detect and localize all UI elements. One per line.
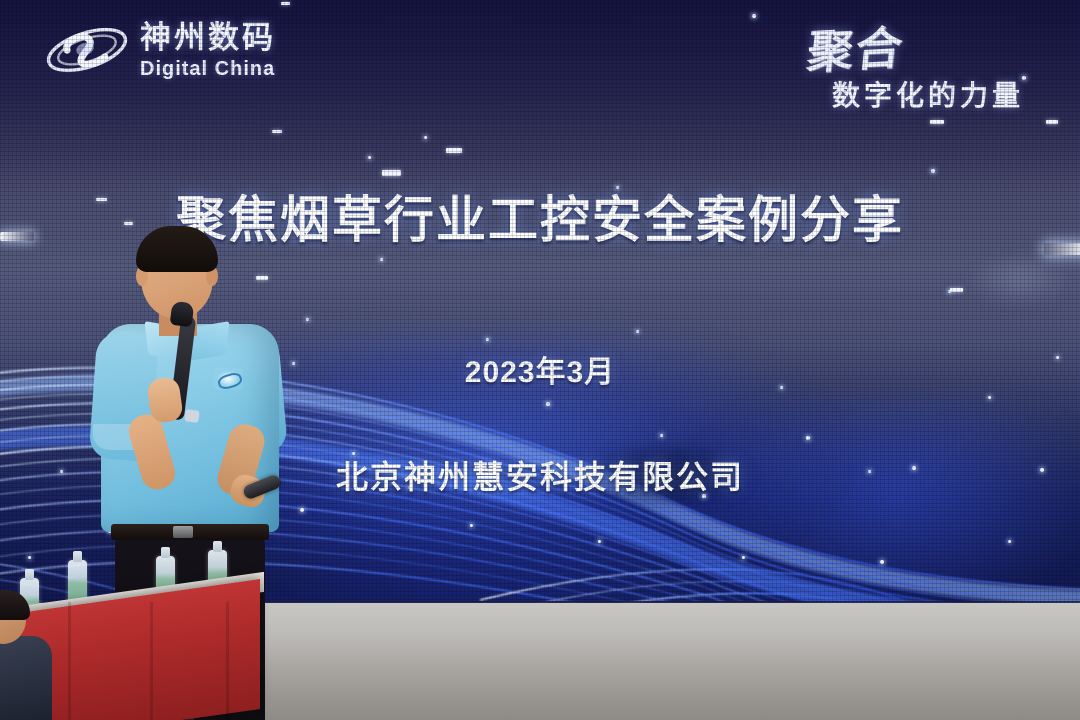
event-tagline: 数字化的力量: [832, 74, 1024, 114]
microphone-tip: [184, 409, 199, 423]
brand-cn-name: 神州数码: [140, 22, 276, 53]
calligraphy-juhe: 聚合: [804, 12, 908, 83]
seated-attendee: [0, 596, 62, 720]
speaker-chest-logo-icon: [213, 368, 243, 390]
spiral-galaxy-logo-icon: [44, 18, 130, 82]
digital-china-logo: 神州数码 Digital China: [44, 18, 276, 82]
speaker-hair: [136, 226, 218, 272]
microphone-head-icon: [170, 301, 195, 328]
brand-en-name: Digital China: [140, 59, 276, 79]
stage-photo: 神州数码 Digital China 聚合 数字化的力量 聚焦烟草行业工控安全案…: [0, 0, 1080, 720]
event-calligraphy-logo: 聚合 数字化的力量: [786, 14, 1054, 114]
side-beam-glow: [960, 250, 1080, 310]
attendee-body: [0, 636, 52, 720]
speaker-belt-buckle: [173, 526, 193, 538]
